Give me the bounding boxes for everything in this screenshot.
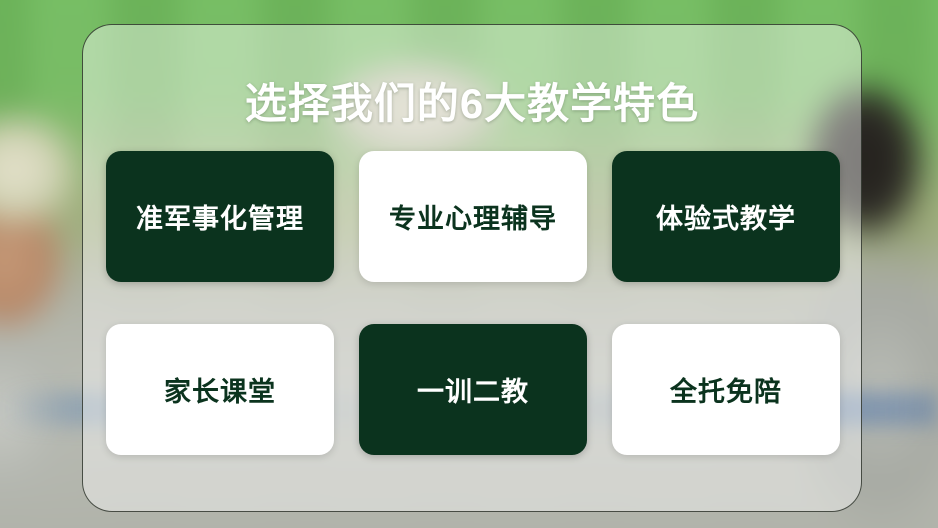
feature-card-2-label: 专业心理辅导	[389, 206, 557, 233]
slide-stage: 选择我们的6大教学特色 准军事化管理 专业心理辅导 体验式教学 家长课堂 一训二…	[0, 0, 938, 528]
feature-card-5[interactable]: 一训二教	[359, 324, 587, 455]
feature-card-4-label: 家长课堂	[164, 379, 276, 406]
feature-panel: 选择我们的6大教学特色 准军事化管理 专业心理辅导 体验式教学 家长课堂 一训二…	[82, 24, 862, 512]
feature-card-3-label: 体验式教学	[656, 206, 796, 233]
feature-card-3[interactable]: 体验式教学	[612, 151, 840, 282]
feature-card-1-label: 准军事化管理	[136, 206, 304, 233]
feature-card-6-label: 全托免陪	[670, 379, 782, 406]
feature-card-2[interactable]: 专业心理辅导	[359, 151, 587, 282]
page-title: 选择我们的6大教学特色	[83, 83, 861, 125]
feature-card-grid: 准军事化管理 专业心理辅导 体验式教学 家长课堂 一训二教 全托免陪	[106, 151, 840, 455]
feature-card-4[interactable]: 家长课堂	[106, 324, 334, 455]
feature-card-6[interactable]: 全托免陪	[612, 324, 840, 455]
feature-card-5-label: 一训二教	[417, 379, 529, 406]
feature-card-1[interactable]: 准军事化管理	[106, 151, 334, 282]
